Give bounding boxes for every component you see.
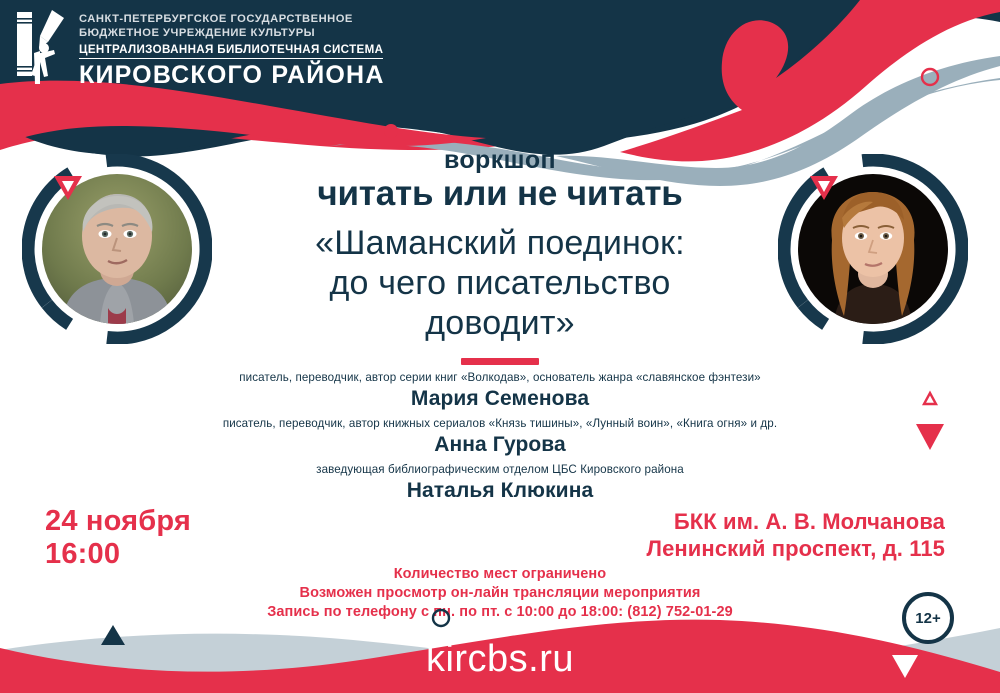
book-and-pen-logo-icon — [14, 6, 70, 86]
speaker-name: Мария Семенова — [100, 386, 900, 411]
event-title-block: воркшоп читать или не читать «Шаманский … — [225, 146, 775, 365]
circle-outline-red-top-right — [922, 69, 938, 85]
event-notes: Количество мест ограничено Возможен прос… — [0, 565, 1000, 622]
speaker-portrait-left — [22, 154, 212, 344]
dot-red-top-center — [384, 124, 398, 138]
logo-line-4: КИРОВСКОГО РАЙОНА — [79, 61, 385, 90]
red-top-right-mass — [620, 0, 1000, 161]
event-venue: БКК им. А. В. Молчанова Ленинский проспе… — [647, 508, 945, 562]
logo-line-2: БЮДЖЕТНОЕ УЧРЕЖДЕНИЕ КУЛЬТУРЫ — [79, 26, 385, 40]
speaker-role: писатель, переводчик, автор книжных сери… — [100, 416, 900, 432]
triangle-down-red-marker-right — [808, 174, 840, 202]
triangle-down-red-marker-left — [52, 174, 84, 202]
event-subtitle-line-1: «Шаманский поединок: — [225, 223, 775, 263]
event-date: 24 ноября — [45, 505, 191, 538]
poster-canvas: САНКТ-ПЕТЕРБУРГСКОЕ ГОСУДАРСТВЕННОЕ БЮДЖ… — [0, 0, 1000, 693]
triangle-down-filled-red — [916, 424, 944, 450]
event-headline: читать или не читать — [225, 175, 775, 213]
red-wave-left — [0, 83, 540, 150]
venue-name: БКК им. А. В. Молчанова — [647, 508, 945, 535]
note-line-3: Запись по телефону с пн. по пт. с 10:00 … — [0, 603, 1000, 622]
speaker-entry: заведующая библиографическим отделом ЦБС… — [100, 462, 900, 503]
triangle-up-outline-red — [924, 393, 936, 404]
logo-line-1: САНКТ-ПЕТЕРБУРГСКОЕ ГОСУДАРСТВЕННОЕ — [79, 12, 385, 26]
event-kicker: воркшоп — [225, 146, 775, 174]
website-url[interactable]: kircbs.ru — [0, 637, 1000, 681]
title-divider-rule — [461, 358, 539, 365]
speaker-entry: писатель, переводчик, автор серии книг «… — [100, 370, 900, 411]
speaker-entry: писатель, переводчик, автор книжных сери… — [100, 416, 900, 457]
event-schedule: 24 ноября 16:00 — [45, 505, 191, 571]
logo-line-3: ЦЕНТРАЛИЗОВАННАЯ БИБЛИОТЕЧНАЯ СИСТЕМА — [79, 42, 383, 59]
speaker-name: Анна Гурова — [100, 432, 900, 457]
note-line-1: Количество мест ограничено — [0, 565, 1000, 584]
speaker-name: Наталья Клюкина — [100, 478, 900, 503]
event-subtitle-line-3: доводит» — [225, 303, 775, 343]
red-left-ribbon — [0, 81, 486, 147]
speakers-list: писатель, переводчик, автор серии книг «… — [100, 370, 900, 508]
event-subtitle-line-2: до чего писательство — [225, 263, 775, 303]
speaker-role: заведующая библиографическим отделом ЦБС… — [100, 462, 900, 478]
event-subtitle: «Шаманский поединок: до чего писательств… — [225, 223, 775, 343]
organization-logo: САНКТ-ПЕТЕРБУРГСКОЕ ГОСУДАРСТВЕННОЕ БЮДЖ… — [14, 6, 385, 90]
speaker-role: писатель, переводчик, автор серии книг «… — [100, 370, 900, 386]
note-line-2: Возможен просмотр он-лайн трансляции мер… — [0, 584, 1000, 603]
speaker-portrait-right — [778, 154, 968, 344]
venue-address: Ленинский проспект, д. 115 — [647, 535, 945, 562]
